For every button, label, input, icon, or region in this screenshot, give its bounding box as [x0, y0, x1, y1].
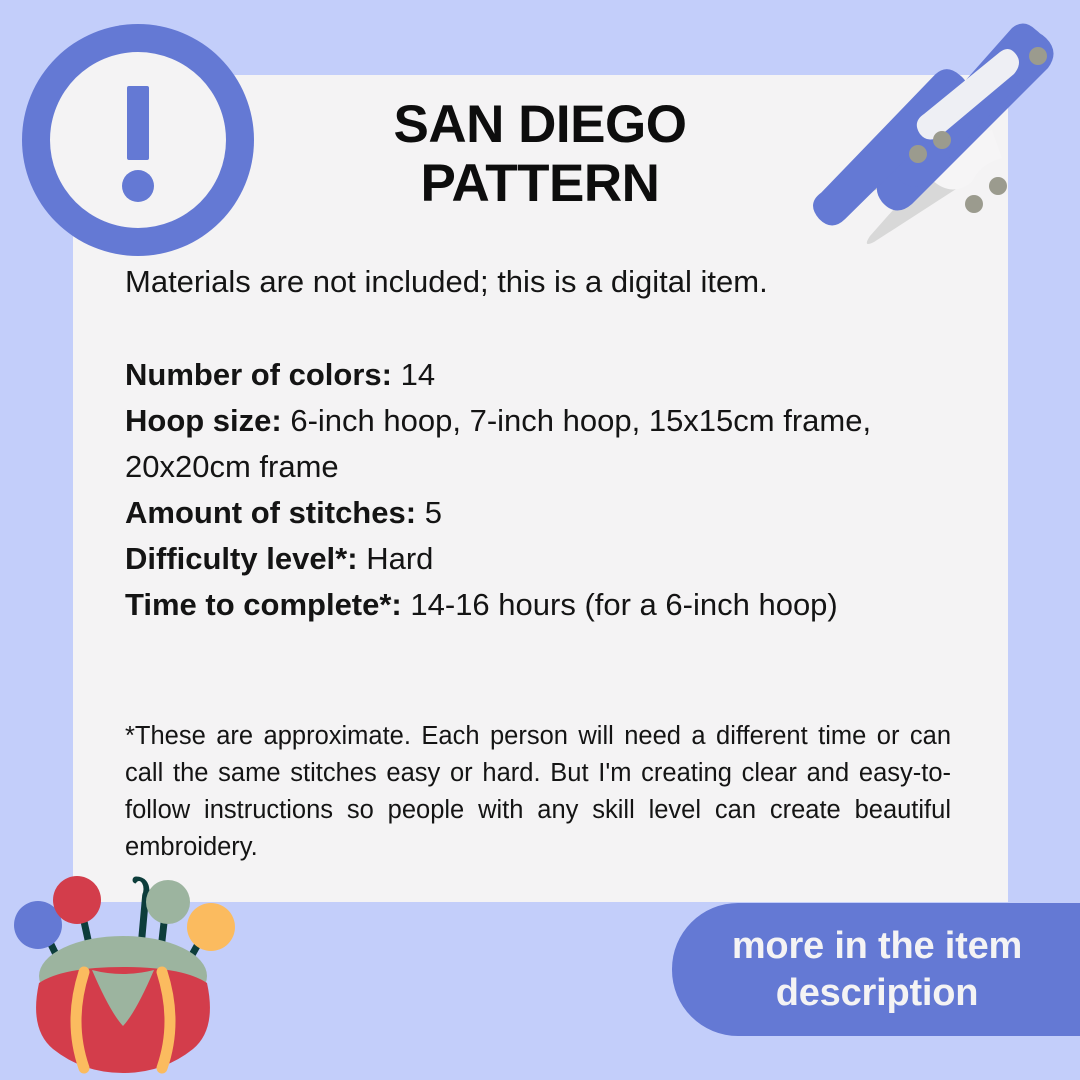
spec-value: Hard	[366, 541, 433, 576]
spec-label: Hoop size:	[125, 403, 282, 438]
page-title: SAN DIEGO PATTERN	[260, 95, 820, 214]
spec-list: Number of colors: 14 Hoop size: 6-inch h…	[125, 352, 975, 628]
spec-label: Difficulty level*:	[125, 541, 358, 576]
poster-canvas: SAN DIEGO PATTERN Materials are not incl…	[0, 0, 1080, 1080]
spec-value: 5	[425, 495, 442, 530]
spec-value: 14-16 hours (for a 6-inch hoop)	[410, 587, 837, 622]
spec-label: Time to complete*:	[125, 587, 402, 622]
spec-item-colors: Number of colors: 14	[125, 352, 975, 398]
spec-label: Amount of stitches:	[125, 495, 416, 530]
exclamation-circle-icon	[22, 24, 254, 256]
spec-item-hoop-size: Hoop size: 6-inch hoop, 7-inch hoop, 15x…	[125, 398, 975, 490]
thread-snips-icon	[800, 8, 1080, 288]
footnote-text: *These are approximate. Each person will…	[125, 718, 951, 866]
spec-item-time: Time to complete*: 14-16 hours (for a 6-…	[125, 582, 975, 628]
exclamation-dot	[122, 170, 154, 202]
spec-value: 14	[401, 357, 435, 392]
tomato-pincushion-icon	[8, 858, 278, 1080]
spec-item-stitches: Amount of stitches: 5	[125, 490, 975, 536]
spec-item-difficulty: Difficulty level*: Hard	[125, 536, 975, 582]
more-in-item-description-button[interactable]: more in the item description	[672, 903, 1080, 1036]
exclamation-bar	[127, 86, 149, 160]
spec-label: Number of colors:	[125, 357, 392, 392]
